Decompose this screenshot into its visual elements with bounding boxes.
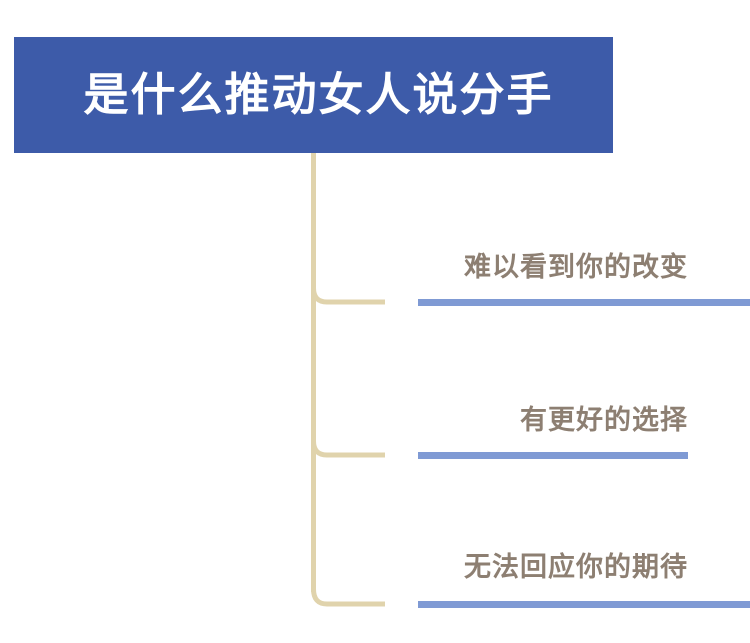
branch-underline-2 [418, 452, 688, 459]
branch-underline-3 [418, 601, 750, 608]
branch-label-2: 有更好的选择 [418, 398, 688, 437]
root-node-label: 是什么推动女人说分手 [55, 70, 571, 120]
branch-underline-1 [418, 299, 750, 306]
branch-label-1: 难以看到你的改变 [418, 245, 688, 284]
diagram-canvas: 是什么推动女人说分手 难以看到你的改变 有更好的选择 无法回应你的期待 [0, 0, 750, 643]
root-node[interactable]: 是什么推动女人说分手 [14, 37, 613, 153]
elbow-branch-3 [314, 589, 386, 604]
elbow-branch-1 [314, 288, 386, 302]
branch-node-1[interactable]: 难以看到你的改变 [418, 245, 750, 307]
elbow-branch-2 [314, 441, 386, 455]
branch-node-2[interactable]: 有更好的选择 [418, 398, 658, 460]
branch-node-3[interactable]: 无法回应你的期待 [418, 545, 748, 609]
branch-label-3: 无法回应你的期待 [418, 545, 688, 584]
